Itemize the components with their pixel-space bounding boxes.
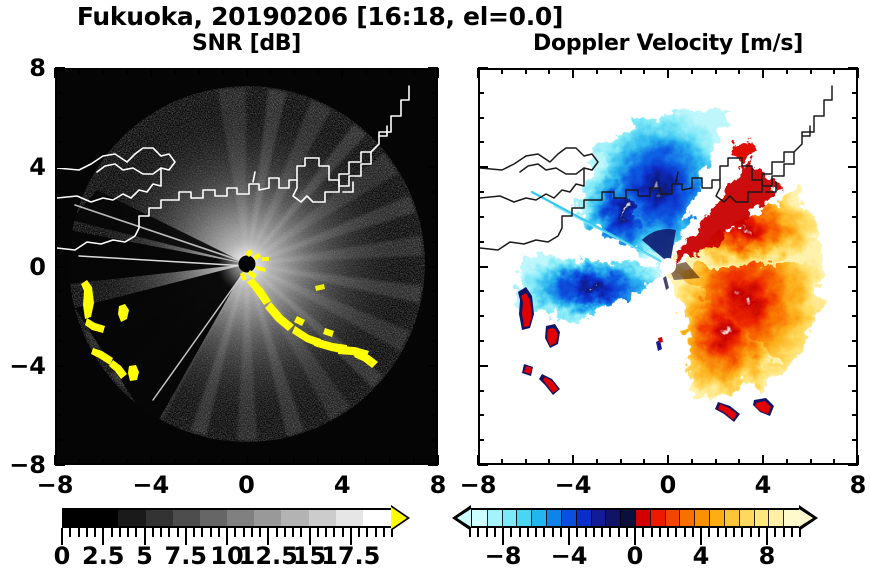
colorbar-minor-tick [201,528,203,537]
y-tick-right [848,464,858,466]
y-tick-right [432,315,438,317]
y-tick-left [478,166,488,168]
x-tick-top [54,68,56,78]
x-tick-top [833,68,835,74]
colorbar-tick-label: 4 [693,542,710,570]
snr-panel-title: SNR [dB] [55,31,438,56]
colorbar-divider [665,510,666,526]
x-tick-top [548,68,550,74]
colorbar-divider [679,510,680,526]
y-tick-left [478,414,484,416]
x-axis-label: −4 [132,471,169,499]
x-tick [715,459,717,465]
colorbar-minor-tick [69,528,71,537]
y-tick-left [55,464,65,466]
colorbar-segment [783,510,799,526]
x-tick [572,455,574,465]
colorbar-segment [336,510,364,526]
colorbar-segment [200,510,228,526]
colorbar-segment [91,510,119,526]
colorbar-segment [605,510,621,526]
colorbar-divider [605,510,606,526]
colorbar-minor-tick [218,528,220,537]
colorbar-minor-tick [750,528,752,537]
x-tick-top [246,68,248,78]
colorbar-minor-tick [774,528,776,537]
colorbar-minor-tick [758,528,760,537]
colorbar-minor-tick [692,528,694,537]
y-tick-right [432,117,438,119]
colorbar-minor-tick [111,528,113,537]
colorbar-segment [309,510,337,526]
colorbar-divider [487,510,488,526]
x-tick-top [477,68,479,78]
y-tick-right [852,315,858,317]
x-axis-label: 4 [755,471,772,499]
colorbar-minor-tick [292,528,294,537]
y-tick-left [478,365,488,367]
colorbar-tick-label: 0 [627,542,644,570]
colorbar-minor-tick [259,528,261,537]
colorbar-minor-tick [375,528,377,537]
figure-title: Fukuoka, 20190206 [16:18, el=0.0] [0,2,640,31]
colorbar-minor-tick [342,528,344,537]
x-tick [174,459,176,465]
y-tick-right [852,191,858,193]
colorbar-minor-tick [799,528,801,537]
y-tick-left [55,390,61,392]
x-tick [389,459,391,465]
colorbar-minor-tick [725,528,727,537]
y-tick-left [55,266,65,268]
y-tick-right [428,166,438,168]
y-tick-left [55,191,61,193]
snr-colorbar[interactable] [62,508,392,528]
colorbar-minor-tick [593,528,595,537]
y-tick-left [55,414,61,416]
y-tick-left [55,241,61,243]
colorbar-minor-tick [119,528,121,537]
y-tick-right [428,266,438,268]
x-axis-label: 8 [430,471,447,499]
x-tick-top [596,68,598,74]
x-axis-label: 4 [334,471,351,499]
y-tick-right [432,141,438,143]
x-tick [548,459,550,465]
colorbar-segment [650,510,666,526]
colorbar-minor-tick [193,528,195,537]
colorbar-minor-tick [560,528,562,537]
colorbar-divider [724,510,725,526]
x-tick-top [786,68,788,74]
x-tick-top [667,68,669,78]
y-tick-left [478,191,484,193]
y-tick-left [478,266,488,268]
x-tick-top [762,68,764,78]
colorbar-segment [709,510,725,526]
y-tick-left [478,315,484,317]
y-tick-right [852,241,858,243]
colorbar-minor-tick [684,528,686,537]
y-tick-left [478,439,484,441]
y-tick-right [432,290,438,292]
y-tick-right [848,365,858,367]
y-tick-right [852,92,858,94]
colorbar-minor-tick [601,528,603,537]
colorbar-segment [516,510,532,526]
x-axis-label: 0 [660,471,677,499]
x-axis-label: 0 [238,471,255,499]
y-tick-left [55,67,65,69]
doppler-radar-site-hole [660,258,676,274]
y-tick-right [852,340,858,342]
x-tick [269,459,271,465]
colorbar-minor-tick [510,528,512,537]
colorbar-minor-tick [243,528,245,537]
x-tick-top [102,68,104,74]
colorbar-minor-tick [576,528,578,537]
colorbar-divider [768,510,769,526]
colorbar-minor-tick [626,528,628,537]
colorbar-minor-tick [585,528,587,537]
y-tick-left [478,290,484,292]
colorbar-minor-tick [667,528,669,537]
colorbar-divider [502,510,503,526]
x-tick [786,459,788,465]
y-tick-right [428,67,438,69]
colorbar-minor-tick [391,528,393,537]
y-tick-right [428,464,438,466]
y-axis-label: 8 [2,54,46,82]
x-tick-top [198,68,200,74]
colorbar-divider [709,510,710,526]
x-tick [501,459,503,465]
x-tick-top [413,68,415,74]
x-tick-top [572,68,574,78]
colorbar-segment [635,510,651,526]
x-tick [833,459,835,465]
y-tick-left [55,365,65,367]
x-tick [413,459,415,465]
colorbar-minor-tick [708,528,710,537]
colorbar-minor-tick [469,528,471,537]
colorbar-segment [591,510,607,526]
colorbar-divider [783,510,784,526]
colorbar-tick-label: 8 [759,542,776,570]
y-tick-right [432,241,438,243]
colorbar-minor-tick [519,528,521,537]
y-tick-right [852,290,858,292]
x-tick-top [525,68,527,74]
colorbar-divider [635,510,636,526]
x-tick [762,455,764,465]
radar-site-marker [239,256,256,273]
x-tick-top [738,68,740,74]
colorbar-minor-tick [552,528,554,537]
x-tick-top [389,68,391,74]
y-tick-left [55,216,61,218]
y-tick-right [432,191,438,193]
colorbar-minor-tick [543,528,545,537]
colorbar-min-arrow [457,509,471,527]
colorbar-minor-tick [86,528,88,537]
colorbar-tick-label: −4 [551,542,588,570]
y-tick-right [852,141,858,143]
x-tick [738,459,740,465]
colorbar-segment [502,510,518,526]
x-tick [525,459,527,465]
colorbar-minor-tick [741,528,743,537]
y-tick-right [852,117,858,119]
colorbar-divider [754,510,755,526]
colorbar-minor-tick [94,528,96,537]
x-tick-top [715,68,717,74]
colorbar-minor-tick [535,528,537,537]
y-tick-left [478,141,484,143]
x-tick-top [78,68,80,74]
colorbar-minor-tick [527,528,529,537]
colorbar-minor-tick [659,528,661,537]
x-axis-label: −8 [460,471,497,499]
y-tick-left [55,92,61,94]
colorbar-segment [227,510,255,526]
colorbar-minor-tick [300,528,302,537]
colorbar-minor-tick [358,528,360,537]
y-axis-label: −8 [2,451,46,479]
colorbar-minor-tick [791,528,793,537]
doppler-colorbar[interactable] [470,508,800,528]
colorbar-divider [739,510,740,526]
x-tick [643,459,645,465]
snr-plot-area [55,68,438,465]
colorbar-max-arrow [799,509,813,527]
x-tick-top [222,68,224,74]
y-tick-left [478,390,484,392]
x-tick [341,455,343,465]
x-tick [222,459,224,465]
x-axis-label: 8 [850,471,867,499]
x-tick [293,459,295,465]
colorbar-minor-tick [284,528,286,537]
y-tick-left [478,67,488,69]
y-tick-left [55,290,61,292]
colorbar-tick-label: 2.5 [82,542,125,570]
colorbar-max-arrow [391,507,407,529]
colorbar-minor-tick [168,528,170,537]
colorbar-segment [754,510,770,526]
x-tick-top [857,68,859,78]
x-tick-top [620,68,622,74]
doppler-plot-area [478,68,858,465]
colorbar-divider [591,510,592,526]
x-tick-top [341,68,343,78]
colorbar-segment [118,510,146,526]
y-axis-label: 4 [2,153,46,181]
colorbar-minor-tick [127,528,129,537]
y-tick-right [852,390,858,392]
colorbar-segment [679,510,695,526]
y-tick-right [852,414,858,416]
y-tick-right [848,266,858,268]
colorbar-minor-tick [651,528,653,537]
colorbar-minor-tick [152,528,154,537]
colorbar-segment [546,510,562,526]
colorbar-minor-tick [477,528,479,537]
colorbar-minor-tick [325,528,327,537]
x-tick [246,455,248,465]
x-tick-top [810,68,812,74]
colorbar-segment [146,510,174,526]
y-tick-left [55,166,65,168]
colorbar-minor-tick [783,528,785,537]
colorbar-segment [768,510,784,526]
colorbar-minor-tick [177,528,179,537]
y-tick-left [478,340,484,342]
x-tick [667,455,669,465]
x-tick [102,459,104,465]
colorbar-divider [650,510,651,526]
x-tick-top [126,68,128,74]
x-tick [317,459,319,465]
colorbar-minor-tick [210,528,212,537]
y-tick-right [432,390,438,392]
colorbar-minor-tick [276,528,278,537]
x-tick [198,459,200,465]
colorbar-tick-label: 12.5 [239,542,298,570]
y-axis-label: 0 [2,253,46,281]
colorbar-minor-tick [251,528,253,537]
colorbar-minor-tick [618,528,620,537]
y-tick-left [55,439,61,441]
colorbar-minor-tick [317,528,319,537]
x-tick-top [691,68,693,74]
x-tick [150,455,152,465]
y-tick-right [432,439,438,441]
x-tick-top [643,68,645,74]
colorbar-segment [281,510,309,526]
colorbar-divider [561,510,562,526]
doppler-radar-svg [480,70,856,463]
y-tick-right [848,166,858,168]
colorbar-tick-label: 7.5 [164,542,207,570]
colorbar-minor-tick [78,528,80,537]
y-tick-left [478,464,488,466]
colorbar-minor-tick [733,528,735,537]
radar-figure: Fukuoka, 20190206 [16:18, el=0.0] SNR [d… [0,0,870,570]
colorbar-divider [576,510,577,526]
colorbar-segment [363,510,391,526]
y-tick-right [432,216,438,218]
colorbar-minor-tick [675,528,677,537]
x-tick-top [269,68,271,74]
x-axis-label: −4 [555,471,592,499]
colorbar-tick-label: −8 [485,542,522,570]
colorbar-minor-tick [717,528,719,537]
colorbar-segment [254,510,282,526]
y-tick-right [852,439,858,441]
y-tick-right [852,216,858,218]
doppler-image [480,70,856,463]
colorbar-divider [531,510,532,526]
colorbar-segment [665,510,681,526]
y-tick-right [848,67,858,69]
colorbar-segment [531,510,547,526]
x-tick-top [293,68,295,74]
snr-image [57,70,436,463]
x-tick [691,459,693,465]
colorbar-segment [724,510,740,526]
x-tick [810,459,812,465]
colorbar-divider [516,510,517,526]
colorbar-minor-tick [366,528,368,537]
snr-colorbar-body[interactable] [62,508,392,528]
y-axis-label: −4 [2,352,46,380]
colorbar-tick-label: 0 [54,542,71,570]
y-tick-right [428,365,438,367]
colorbar-segment [561,510,577,526]
y-tick-left [478,241,484,243]
y-tick-left [55,141,61,143]
colorbar-minor-tick [333,528,335,537]
colorbar-segment [576,510,592,526]
colorbar-divider [694,510,695,526]
colorbar-minor-tick [642,528,644,537]
colorbar-minor-tick [486,528,488,537]
x-tick-top [437,68,439,78]
x-tick-top [317,68,319,74]
colorbar-segment [487,510,503,526]
colorbar-divider [546,510,547,526]
y-tick-left [478,92,484,94]
y-tick-left [55,340,61,342]
colorbar-segment [739,510,755,526]
colorbar-segment [472,510,488,526]
y-tick-left [55,315,61,317]
y-tick-left [55,117,61,119]
colorbar-minor-tick [135,528,137,537]
colorbar-minor-tick [609,528,611,537]
colorbar-segment [173,510,201,526]
colorbar-segment [64,510,92,526]
colorbar-divider [620,510,621,526]
y-tick-left [478,216,484,218]
x-tick [620,459,622,465]
colorbar-minor-tick [494,528,496,537]
x-tick [126,459,128,465]
colorbar-tick-label: 5 [136,542,153,570]
colorbar-minor-tick [383,528,385,537]
colorbar-segment [620,510,636,526]
colorbar-minor-tick [234,528,236,537]
doppler-colorbar-body[interactable] [470,508,800,528]
y-tick-right [432,92,438,94]
colorbar-segment [694,510,710,526]
x-tick-top [174,68,176,74]
colorbar-minor-tick [160,528,162,537]
x-tick [596,459,598,465]
x-tick-top [501,68,503,74]
y-tick-right [432,340,438,342]
y-tick-right [432,414,438,416]
x-tick-top [150,68,152,78]
x-tick-top [365,68,367,74]
x-tick [365,459,367,465]
x-tick [78,459,80,465]
snr-radar-svg [57,70,436,463]
colorbar-tick-label: 17.5 [321,542,380,570]
doppler-panel-title: Doppler Velocity [m/s] [478,31,858,56]
y-tick-left [478,117,484,119]
